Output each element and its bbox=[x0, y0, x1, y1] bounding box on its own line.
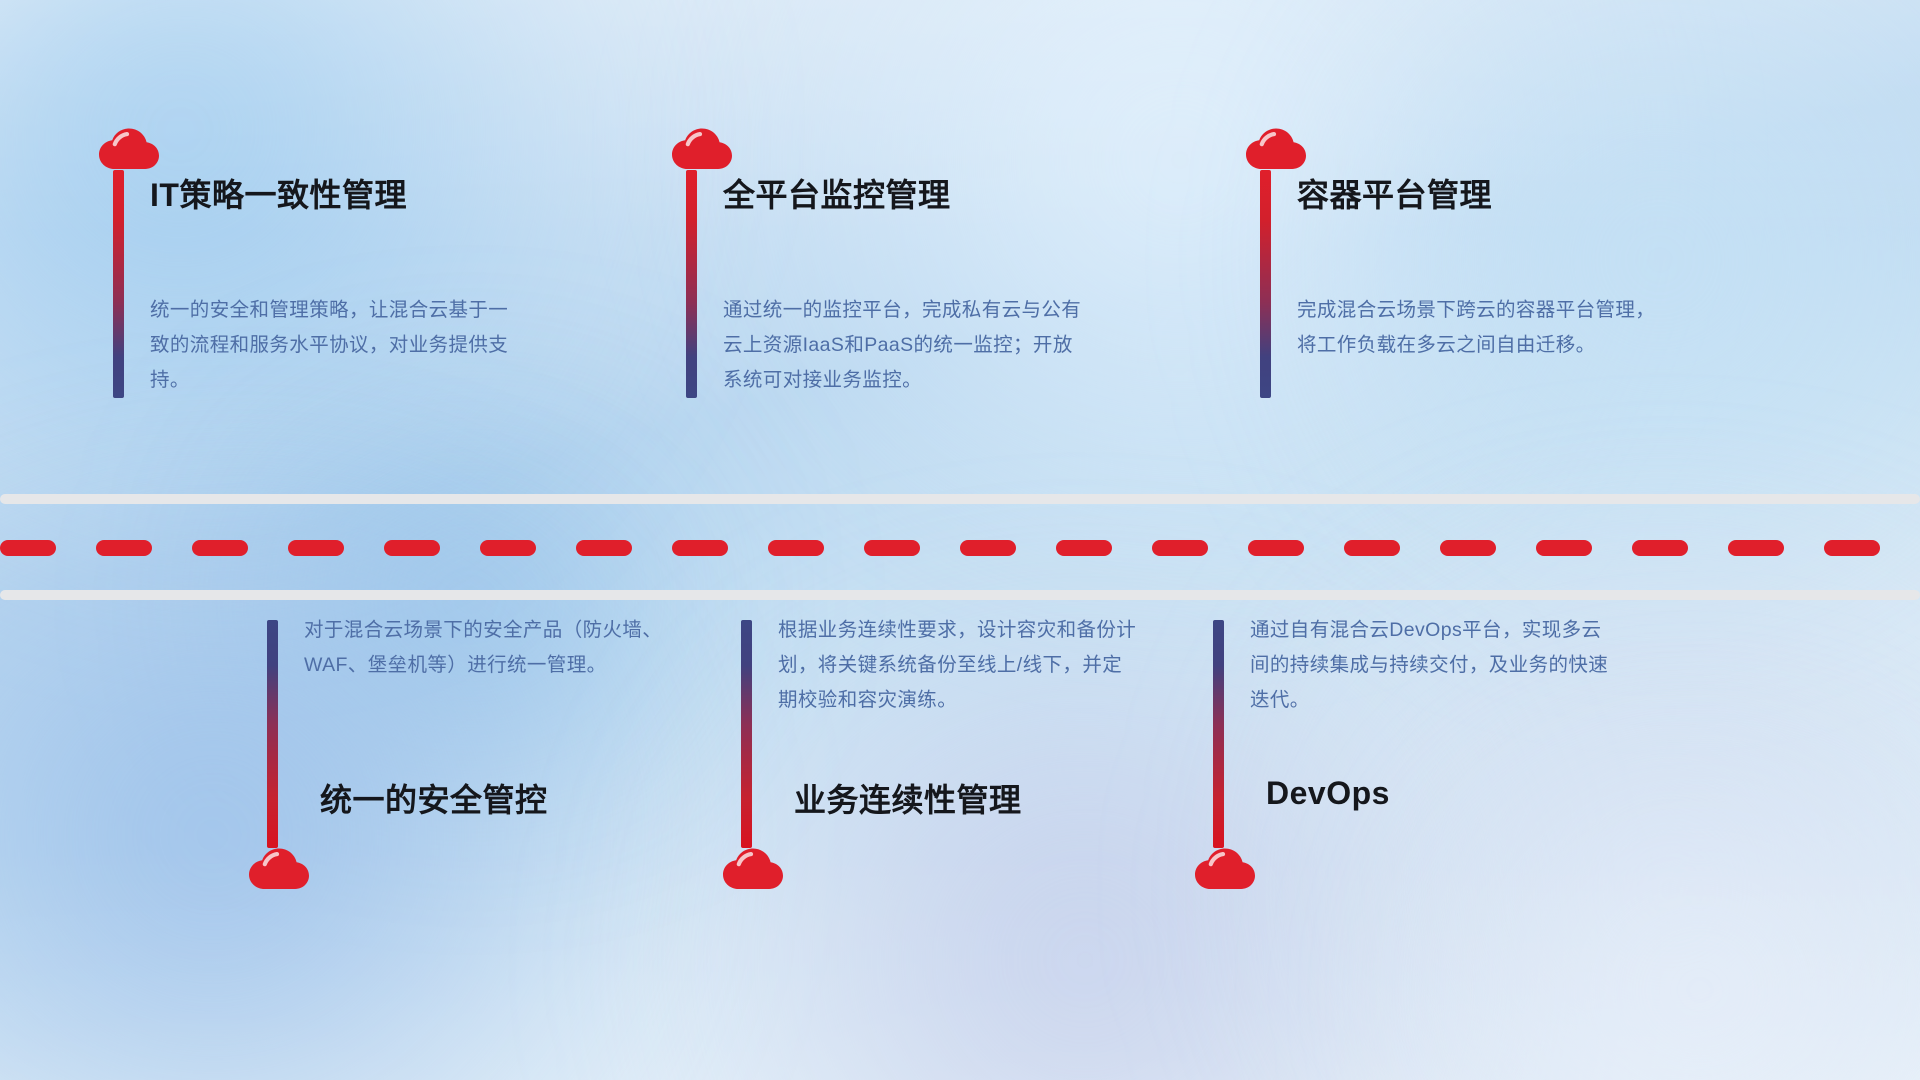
divider-dash bbox=[1824, 540, 1880, 556]
feature-title: 统一的安全管控 bbox=[320, 775, 548, 821]
cloud-icon bbox=[1194, 848, 1256, 890]
marker-stem bbox=[1245, 128, 1285, 398]
divider-dash bbox=[480, 540, 536, 556]
feature-title: 全平台监控管理 bbox=[723, 170, 951, 216]
feature-description: 完成混合云场景下跨云的容器平台管理，将工作负载在多云之间自由迁移。 bbox=[1297, 293, 1657, 363]
feature-title: DevOps bbox=[1266, 775, 1390, 812]
divider-dash bbox=[672, 540, 728, 556]
marker-stem bbox=[98, 128, 138, 398]
marker-stem bbox=[726, 620, 766, 890]
connector-bar bbox=[741, 620, 752, 848]
divider-dash bbox=[96, 540, 152, 556]
divider-rail-top bbox=[0, 494, 1920, 504]
cloud-icon bbox=[722, 848, 784, 890]
feature-title: 业务连续性管理 bbox=[794, 775, 1022, 821]
divider-dash bbox=[1536, 540, 1592, 556]
feature-description: 通过统一的监控平台，完成私有云与公有云上资源IaaS和PaaS的统一监控；开放系… bbox=[723, 293, 1083, 398]
divider-dash bbox=[768, 540, 824, 556]
divider-dash bbox=[1248, 540, 1304, 556]
feature-description: 统一的安全和管理策略，让混合云基于一致的流程和服务水平协议，对业务提供支持。 bbox=[150, 293, 510, 398]
divider-dash bbox=[1344, 540, 1400, 556]
marker-stem bbox=[1198, 620, 1238, 890]
divider-dash bbox=[1632, 540, 1688, 556]
cloud-icon bbox=[248, 848, 310, 890]
marker-stem bbox=[252, 620, 292, 890]
marker-stem bbox=[671, 128, 711, 398]
connector-bar bbox=[686, 170, 697, 398]
cloud-icon bbox=[671, 128, 733, 170]
divider-dash bbox=[1440, 540, 1496, 556]
divider-dash bbox=[384, 540, 440, 556]
divider-dash bbox=[288, 540, 344, 556]
divider-dash bbox=[576, 540, 632, 556]
divider-dash bbox=[864, 540, 920, 556]
divider bbox=[0, 494, 1920, 604]
feature-description: 通过自有混合云DevOps平台，实现多云间的持续集成与持续交付，及业务的快速迭代… bbox=[1250, 613, 1610, 718]
connector-bar bbox=[1213, 620, 1224, 848]
feature-description: 根据业务连续性要求，设计容灾和备份计划，将关键系统备份至线上/线下，并定期校验和… bbox=[778, 613, 1138, 718]
feature-description: 对于混合云场景下的安全产品（防火墙、WAF、堡垒机等）进行统一管理。 bbox=[304, 613, 664, 683]
divider-rail-bottom bbox=[0, 590, 1920, 600]
divider-dash bbox=[1056, 540, 1112, 556]
cloud-icon bbox=[1245, 128, 1307, 170]
divider-dashed-line bbox=[0, 540, 1920, 556]
divider-dash bbox=[1152, 540, 1208, 556]
divider-dash bbox=[1728, 540, 1784, 556]
divider-dash bbox=[960, 540, 1016, 556]
cloud-icon bbox=[98, 128, 160, 170]
connector-bar bbox=[267, 620, 278, 848]
connector-bar bbox=[113, 170, 124, 398]
connector-bar bbox=[1260, 170, 1271, 398]
feature-title: 容器平台管理 bbox=[1297, 170, 1492, 216]
divider-dash bbox=[192, 540, 248, 556]
feature-title: IT策略一致性管理 bbox=[150, 170, 407, 216]
divider-dash bbox=[0, 540, 56, 556]
